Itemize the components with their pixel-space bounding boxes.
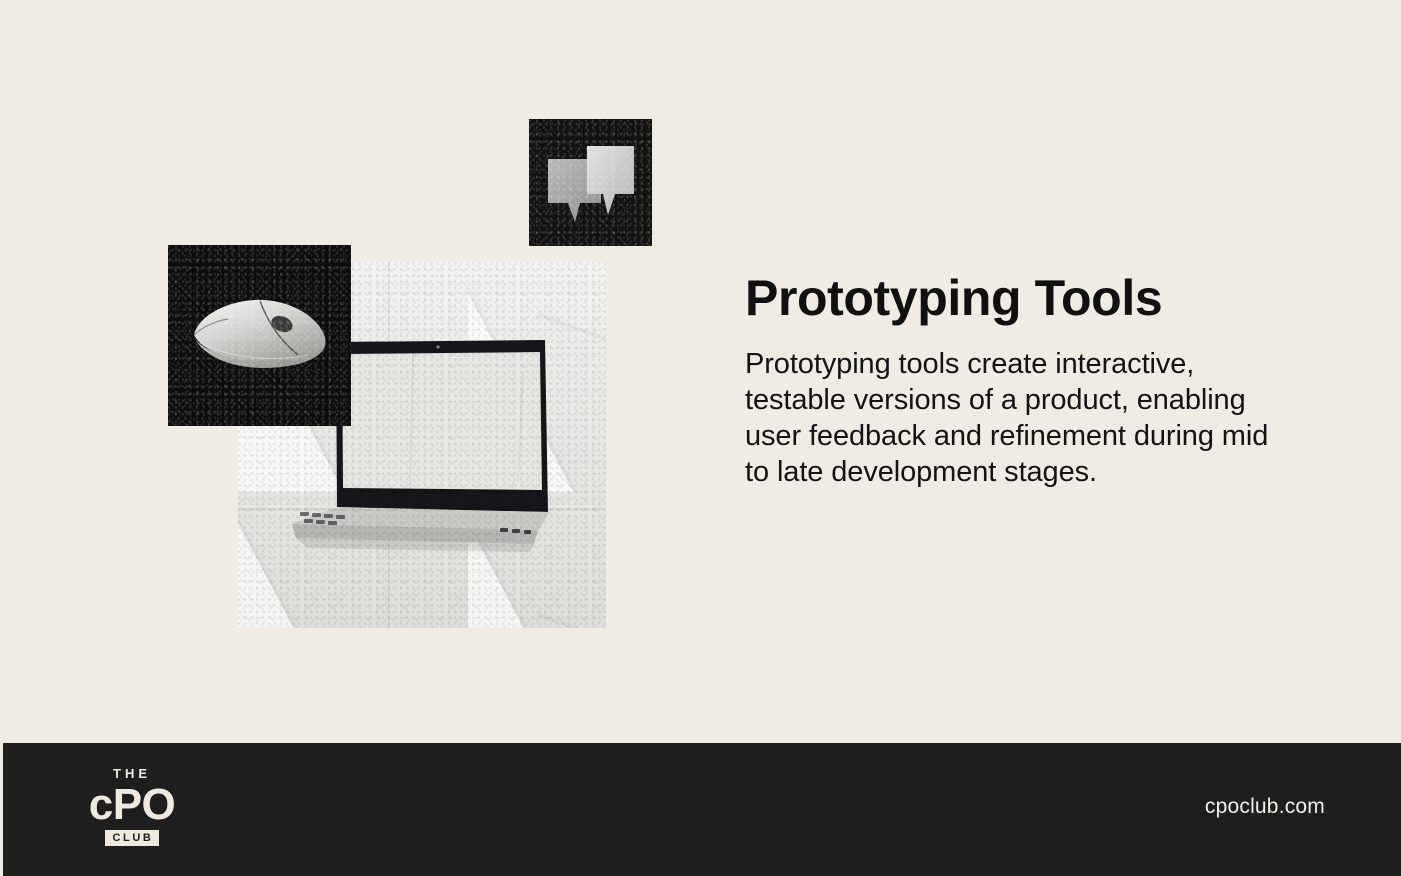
cpo-club-logo[interactable]: THE cPO CLUB <box>84 766 180 846</box>
website-url[interactable]: cpoclub.com <box>1205 795 1325 819</box>
computer-mouse-icon <box>168 245 351 426</box>
speech-bubbles-icon <box>529 119 652 246</box>
footer-left-edge <box>0 743 3 876</box>
page-title: Prototyping Tools <box>745 268 1325 328</box>
text-block: Prototyping Tools Prototyping tools crea… <box>745 268 1325 490</box>
computer-mouse-panel <box>168 245 351 426</box>
speech-bubbles-panel <box>529 119 652 246</box>
logo-club-badge: CLUB <box>105 830 160 846</box>
footer-bar <box>0 743 1401 876</box>
logo-wordmark: cPO <box>84 783 180 827</box>
body-text: Prototyping tools create interactive, te… <box>745 346 1290 490</box>
logo-club-badge-wrap: CLUB <box>84 830 180 846</box>
slide: Prototyping Tools Prototyping tools crea… <box>0 0 1401 876</box>
image-collage <box>0 0 720 743</box>
